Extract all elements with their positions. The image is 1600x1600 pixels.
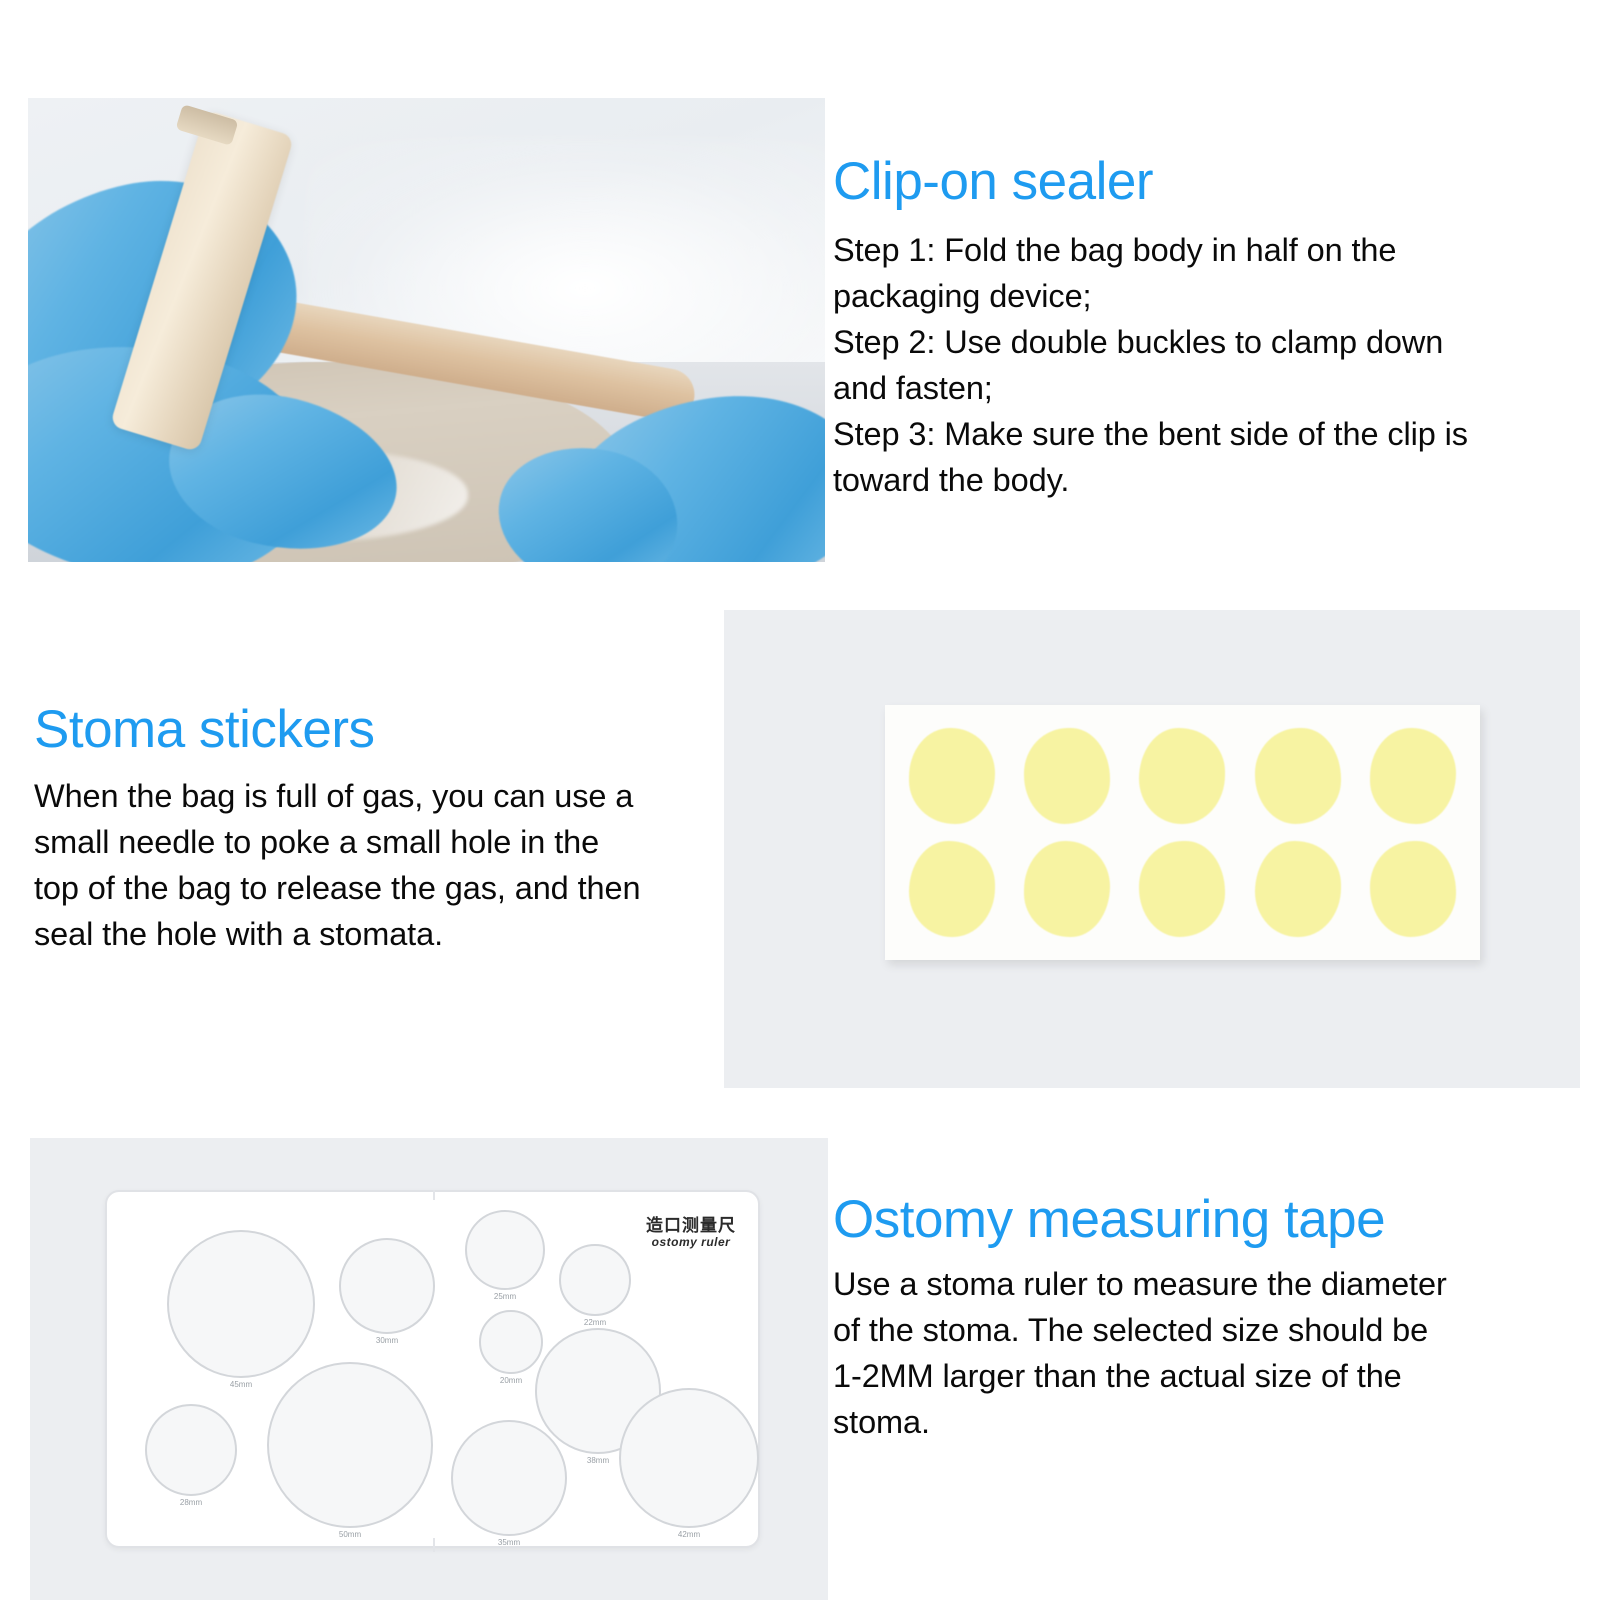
body-line: and fasten;: [833, 365, 1573, 411]
sticker-sheet: [885, 705, 1480, 960]
clip-on-sealer-text-block: Clip-on sealer Step 1: Fold the bag body…: [833, 152, 1573, 503]
ruler-circle: [559, 1244, 631, 1316]
ruler-circle: [267, 1362, 433, 1528]
ruler-circle: [145, 1404, 237, 1496]
stoma-sticker: [1139, 841, 1225, 937]
stoma-sticker: [1024, 728, 1110, 824]
ruler-circle-label: 25mm: [494, 1292, 516, 1301]
ruler-brand-english: ostomy ruler: [646, 1236, 736, 1250]
ruler-circle-label: 30mm: [376, 1336, 398, 1345]
ruler-circle-label: 35mm: [498, 1538, 520, 1547]
body-line: small needle to poke a small hole in the: [34, 819, 724, 865]
body-line: Use a stoma ruler to measure the diamete…: [833, 1261, 1573, 1307]
stoma-stickers-image-panel: [724, 610, 1580, 1088]
ruler-circle: [167, 1230, 315, 1378]
body-line: 1-2MM larger than the actual size of the: [833, 1353, 1573, 1399]
body-line: Step 3: Make sure the bent side of the c…: [833, 411, 1573, 457]
body-line: Step 2: Use double buckles to clamp down: [833, 319, 1573, 365]
stoma-stickers-body: When the bag is full of gas, you can use…: [34, 773, 724, 957]
stoma-sticker: [1024, 841, 1110, 937]
ostomy-measuring-tape-heading: Ostomy measuring tape: [833, 1190, 1573, 1249]
ruler-circle-label: 45mm: [230, 1380, 252, 1389]
clip-on-sealer-heading: Clip-on sealer: [833, 152, 1573, 211]
ostomy-ruler-card: 造口测量尺 ostomy ruler 45mm30mm25mm20mm22mm3…: [105, 1190, 760, 1548]
stoma-stickers-text-block: Stoma stickers When the bag is full of g…: [34, 700, 724, 957]
ostomy-measuring-tape-text-block: Ostomy measuring tape Use a stoma ruler …: [833, 1190, 1573, 1445]
ruler-circle-label: 22mm: [584, 1318, 606, 1327]
ruler-circle: [451, 1420, 567, 1536]
body-line: top of the bag to release the gas, and t…: [34, 865, 724, 911]
ruler-circle-label: 38mm: [587, 1456, 609, 1465]
body-line: toward the body.: [833, 457, 1573, 503]
ruler-circle-label: 50mm: [339, 1530, 361, 1539]
stoma-sticker: [1370, 728, 1456, 824]
stoma-stickers-heading: Stoma stickers: [34, 700, 724, 759]
stoma-sticker: [909, 841, 995, 937]
ruler-circle-label: 42mm: [678, 1530, 700, 1539]
clip-on-sealer-photo: [28, 98, 825, 562]
body-line: packaging device;: [833, 273, 1573, 319]
infographic-page: Clip-on sealer Step 1: Fold the bag body…: [0, 0, 1600, 1600]
ruler-circle-label: 28mm: [180, 1498, 202, 1507]
ruler-circle: [619, 1388, 759, 1528]
ruler-brand-label: 造口测量尺 ostomy ruler: [646, 1216, 736, 1249]
stoma-sticker: [1255, 841, 1341, 937]
stoma-sticker: [1255, 728, 1341, 824]
ruler-circle: [479, 1310, 543, 1374]
stoma-sticker: [909, 728, 995, 824]
ruler-circle: [465, 1210, 545, 1290]
body-line: of the stoma. The selected size should b…: [833, 1307, 1573, 1353]
body-line: When the bag is full of gas, you can use…: [34, 773, 724, 819]
body-line: Step 1: Fold the bag body in half on the: [833, 227, 1573, 273]
ostomy-measuring-tape-body: Use a stoma ruler to measure the diamete…: [833, 1261, 1573, 1445]
clip-on-sealer-body: Step 1: Fold the bag body in half on the…: [833, 227, 1573, 503]
stoma-sticker: [1370, 841, 1456, 937]
body-line: stoma.: [833, 1399, 1573, 1445]
stoma-sticker: [1139, 728, 1225, 824]
ruler-brand-chinese: 造口测量尺: [646, 1216, 736, 1236]
body-line: seal the hole with a stomata.: [34, 911, 724, 957]
ruler-circle: [339, 1238, 435, 1334]
ostomy-ruler-image-panel: 造口测量尺 ostomy ruler 45mm30mm25mm20mm22mm3…: [30, 1138, 828, 1600]
ruler-circle-label: 20mm: [500, 1376, 522, 1385]
